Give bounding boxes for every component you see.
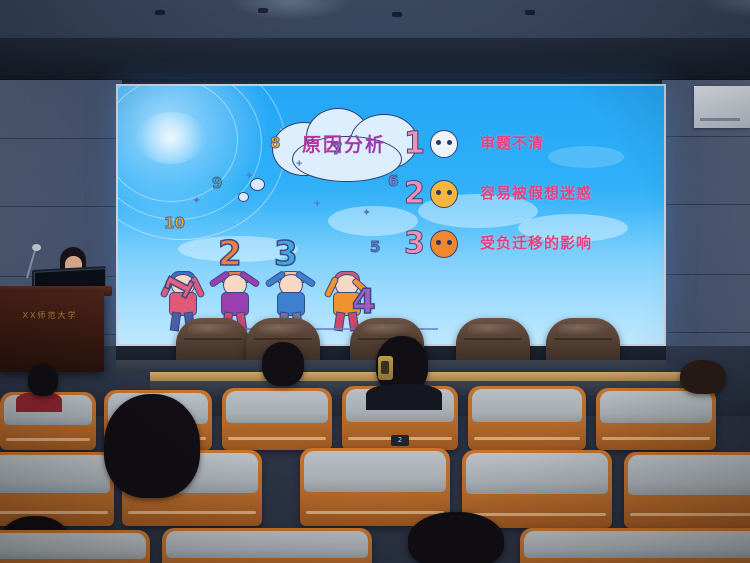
kid-held-number: 2 <box>218 234 242 274</box>
seat-cushion <box>472 389 582 422</box>
front-row-chair <box>176 318 250 366</box>
seat-lip <box>306 511 444 514</box>
bullet-text: 受负迁移的影响 <box>480 232 592 253</box>
seat-cushion <box>0 533 146 559</box>
bullet-text: 容易被假想迷惑 <box>480 182 592 203</box>
seat-cushion <box>600 391 712 423</box>
podium: XX师范大学 <box>0 292 104 372</box>
seat-lip <box>0 511 108 514</box>
seat-lip <box>128 511 256 514</box>
seat-lip <box>468 513 606 516</box>
bullet-number: 1 <box>404 126 425 161</box>
recessed-light <box>525 10 535 15</box>
seat-lip <box>602 437 710 440</box>
audience-seat[interactable] <box>162 528 372 563</box>
audience-seat[interactable] <box>596 388 716 450</box>
front-row-chair <box>546 318 620 366</box>
seat-cushion <box>0 455 110 493</box>
wall-panel-seam <box>0 206 122 207</box>
attendee-head <box>680 360 726 394</box>
lion-mascot-icon <box>430 180 458 208</box>
attendee-head <box>28 364 58 396</box>
ceiling-light-glow <box>700 0 750 18</box>
attendee-head <box>262 342 304 386</box>
panda-mascot-icon <box>430 130 458 158</box>
seat-cushion <box>166 531 368 558</box>
audience-seat[interactable] <box>300 448 450 526</box>
sparkle-icon: + <box>314 198 320 210</box>
audience-seat[interactable] <box>0 452 114 526</box>
kid-held-number: 3 <box>274 234 298 274</box>
recessed-light <box>392 12 402 17</box>
seat-cushion <box>524 531 750 558</box>
seat-cushion <box>304 451 446 492</box>
tiger-mascot-icon <box>430 230 458 258</box>
seat-lip <box>474 437 580 440</box>
audience-seat[interactable] <box>624 452 750 528</box>
floating-number: 8 <box>270 134 280 152</box>
podium-inscription: XX师范大学 <box>0 310 100 321</box>
floating-number: 7 <box>332 140 342 158</box>
hair-clip <box>378 356 393 380</box>
wall-panel-seam <box>662 274 750 275</box>
audience-seat[interactable] <box>222 388 332 450</box>
seat-cushion <box>628 455 750 495</box>
bubble-tail-dot <box>238 192 249 202</box>
bullet-text: 审题不清 <box>480 132 544 153</box>
sparkle-icon: + <box>296 158 302 170</box>
audience-seat[interactable] <box>0 530 150 563</box>
attendee-head <box>104 394 200 498</box>
slide-bullet-item: 3 受负迁移的影响 <box>404 228 654 278</box>
right-wall <box>662 80 750 380</box>
seat-lip <box>228 437 326 440</box>
kid-held-number: 4 <box>352 282 376 322</box>
attendee-shoulders <box>366 384 442 410</box>
ceiling <box>0 0 750 82</box>
recessed-light <box>155 10 165 15</box>
front-row-chair <box>456 318 530 366</box>
seat-lip <box>6 438 90 441</box>
audience-seat[interactable] <box>468 386 586 450</box>
presentation-slide: ✈ 原因分析 1 <box>118 86 664 344</box>
floating-number: 6 <box>388 172 398 190</box>
wall-sign-plate <box>694 86 750 128</box>
ceiling-light-glow <box>230 0 350 20</box>
wall-panel-seam <box>662 136 750 137</box>
sparkle-icon: + <box>246 170 252 182</box>
attendee-head <box>408 512 504 563</box>
wall-panel-seam <box>662 332 750 333</box>
sparkle-icon: ✦ <box>362 206 371 219</box>
sparkle-icon: ✦ <box>192 194 201 207</box>
audience-seat[interactable] <box>520 528 750 563</box>
ceiling-soffit <box>0 38 750 84</box>
seat-cushion <box>466 453 608 494</box>
thought-bubble: 原因分析 <box>262 106 426 180</box>
seat-cushion <box>226 391 328 423</box>
wall-panel-seam <box>662 204 750 205</box>
wall-panel-seam <box>0 138 122 139</box>
lecture-hall-photo: ✈ 原因分析 1 <box>0 0 750 563</box>
floating-number: 9 <box>212 174 222 192</box>
seat-number-plate: 2 <box>391 435 409 446</box>
recessed-light <box>258 8 268 13</box>
slide-bullet-item: 2 容易被假想迷惑 <box>404 178 654 228</box>
slide-title: 原因分析 <box>262 130 426 157</box>
bullet-number: 2 <box>404 176 425 211</box>
slide-bullet-list: 1 审题不清 2 容易被假想迷惑 3 <box>404 128 654 278</box>
microphone-icon <box>32 244 41 251</box>
led-display-frame: ✈ 原因分析 1 <box>116 84 666 346</box>
seat-lip <box>630 513 750 516</box>
bullet-number: 3 <box>404 226 425 261</box>
slide-bullet-item: 1 审题不清 <box>404 128 654 178</box>
